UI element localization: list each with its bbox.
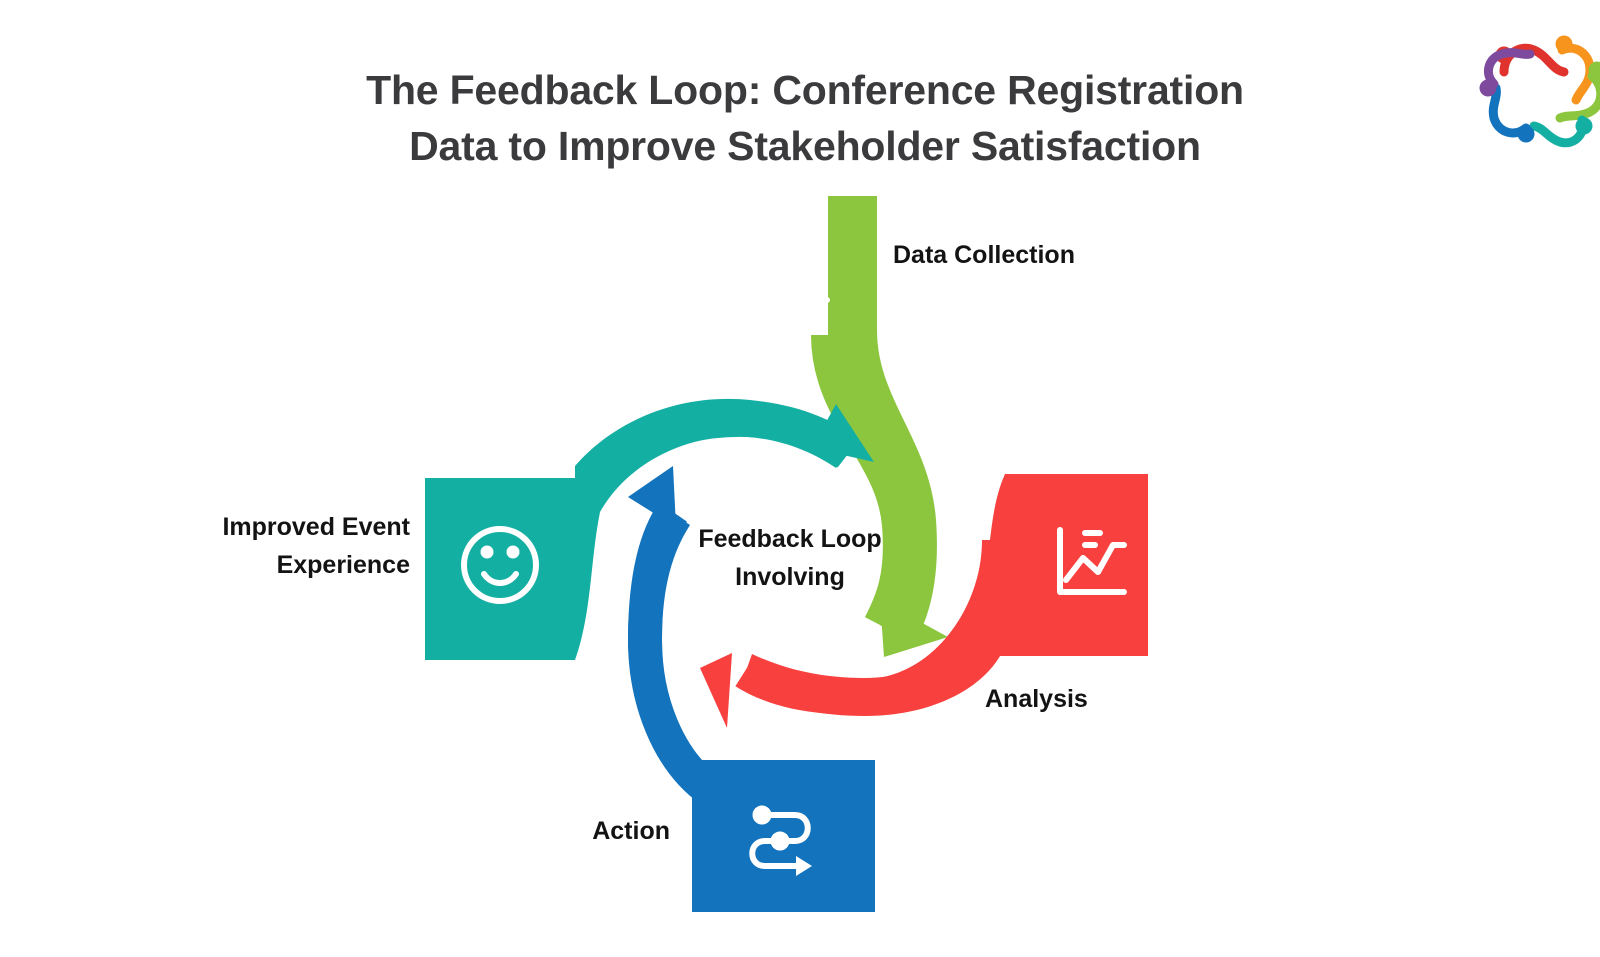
feedback-loop-diagram: Data Collection Analysis Action Improved…	[0, 0, 1600, 957]
stage-label-action: Action	[410, 812, 670, 850]
feedback-loop-center-caption: Feedback Loop Involving	[640, 520, 940, 596]
arrow-analysis-to-action-head	[700, 653, 732, 728]
stage-label-improved-event-experience: Improved Event Experience	[150, 508, 410, 584]
stage-label-analysis: Analysis	[985, 680, 1205, 718]
stage-label-data-collection: Data Collection	[893, 236, 1113, 274]
scatter-plot-icon	[751, 227, 827, 300]
